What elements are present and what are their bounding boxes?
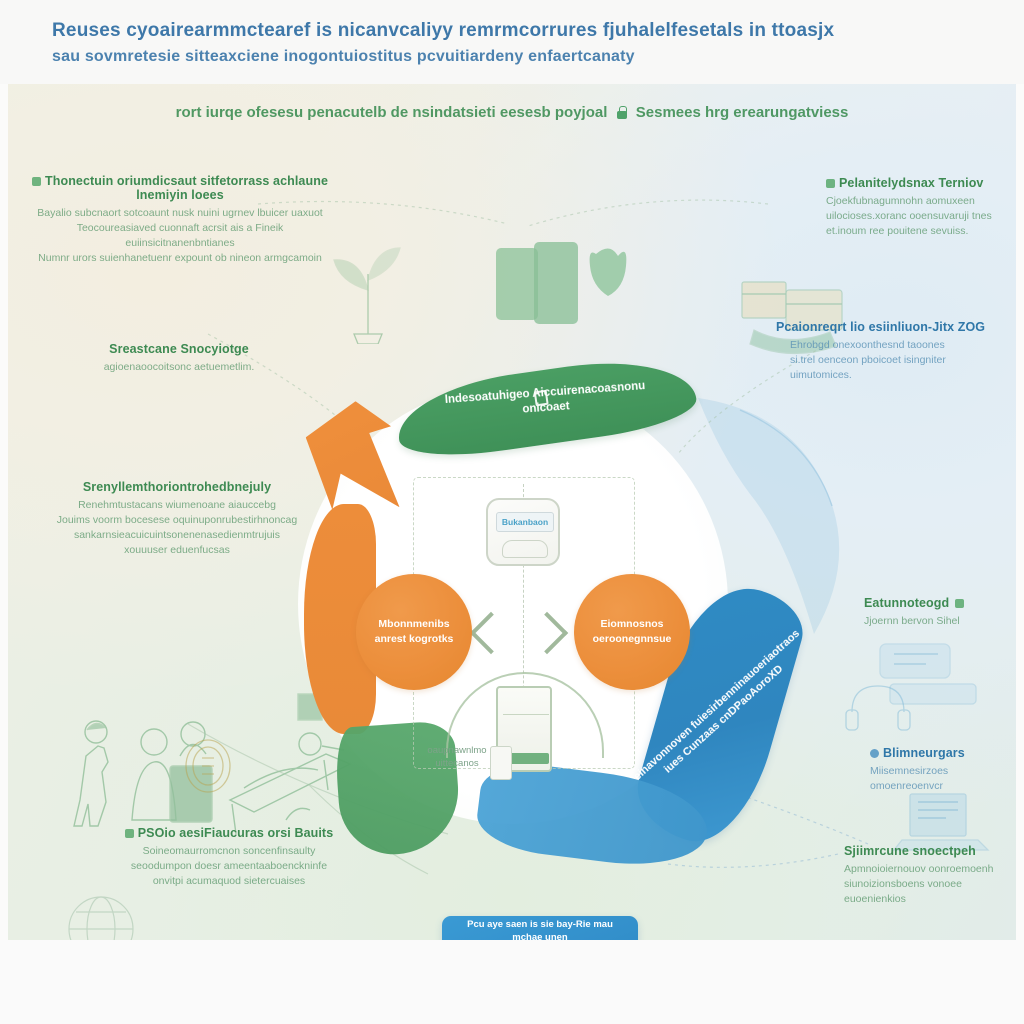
note-top-right: Pelanitelydsnax Terniov Cjoekfubnagumnoh… xyxy=(826,176,1016,239)
note-left-lower-sub: Renehmtustacans wiumenoane aiauccebg Jou… xyxy=(52,498,302,558)
card-badge-icon xyxy=(955,599,964,608)
card-shield-illustration xyxy=(478,232,628,350)
headset-illustration xyxy=(834,670,924,740)
note-left-lower-head: Srenyllemthoriontrohedbnejuly xyxy=(52,480,302,494)
note-left-mid-sub: agioenaoocoitsonc aetuemetlim. xyxy=(64,360,294,375)
page-title: Reuses cyoairearmmctearef is nicanvcaliy… xyxy=(52,20,834,42)
device-screen-label: Bukanbaon xyxy=(502,517,548,527)
note-right-lower-head: Blimneurgars xyxy=(870,746,1016,760)
board-subtitle-after: Sesmees hrg erearungatviess xyxy=(636,104,849,121)
bottom-callout-box[interactable]: Pcu aye saen is sie bay-Rie mau mchae un… xyxy=(442,916,638,940)
circle-node-right[interactable]: Eiomnosnos oeroonegnnsue xyxy=(574,574,690,690)
diagram-board: rort iurqe ofesesu penacutelb de nsindat… xyxy=(8,84,1016,940)
note-left-lower: Srenyllemthoriontrohedbnejuly Renehmtust… xyxy=(52,480,302,558)
note-bottom-right: Sjiimrcune snoectpeh Apmnoioiernouov oon… xyxy=(844,844,1016,907)
note-top-right-sub: Cjoekfubnagumnohn aomuxeen uilocioses.xo… xyxy=(826,194,1016,239)
note-left-mid-head: Sreastcane Snocyiotge xyxy=(64,342,294,356)
note-right-upper-head: Pcaionreqrt lio esiinliuon-Jitx ZOG xyxy=(776,320,1006,334)
circle-node-left-label: Mbonnmenibs anrest kogrotks xyxy=(356,617,472,647)
footer-band: PayPal paycal xyxy=(0,940,1024,1024)
note-bottom-right-head: Sjiimrcune snoectpeh xyxy=(844,844,1016,858)
note-bottom-left: PSOio aesiFiaucuras orsi Bauits Soineoma… xyxy=(104,826,354,889)
note-right-upper-sub: Ehrobgd onexoonthesnd taoones si.trel oe… xyxy=(776,338,1006,383)
note-top-left-sub: Bayalio subcnaort sotcoaunt nusk nuini u… xyxy=(30,206,330,266)
note-bottom-right-sub: Apmnoioiernouov oonroemoenh siunoizionsb… xyxy=(844,862,1016,907)
device-bottom-label: oaupnawnlmo uittecanos xyxy=(416,744,498,770)
green-banner-label: Indesoatuhigeo Aiccuirenacoasnonu onicoa… xyxy=(393,354,697,449)
note-top-left: Thonectuin oriumdicsaut sitfetorrass ach… xyxy=(30,174,330,266)
board-subtitle-before: rort iurqe ofesesu penacutelb de nsindat… xyxy=(176,104,608,121)
note-right-lower-sub: Miisemnesirzoes omoenreoenvcr xyxy=(870,764,1016,794)
infographic-canvas: Reuses cyoairearmmctearef is nicanvcaliy… xyxy=(0,0,1024,1024)
hand-icon xyxy=(502,540,548,558)
note-right-upper: Pcaionreqrt lio esiinliuon-Jitx ZOG Ehro… xyxy=(776,320,1006,383)
globe-illustration xyxy=(56,884,146,940)
note-bottom-left-sub: Soineomaurromcnon soncenfinsaulty seoodu… xyxy=(104,844,354,889)
note-top-right-head: Pelanitelydsnax Terniov xyxy=(826,176,1016,190)
circle-node-right-label: Eiomnosnos oeroonegnnsue xyxy=(574,617,690,647)
note-bottom-left-head: PSOio aesiFiaucuras orsi Bauits xyxy=(104,826,354,840)
card-reader-device: Bukanbaon xyxy=(486,498,560,566)
devices-illustration xyxy=(864,630,1004,720)
page-subtitle: sau sovmretesie sitteaxciene inogontuios… xyxy=(52,48,635,66)
title-band: Reuses cyoairearmmctearef is nicanvcaliy… xyxy=(0,0,1024,84)
circle-node-left[interactable]: Mbonnmenibs anrest kogrotks xyxy=(356,574,472,690)
board-subtitle: rort iurqe ofesesu penacutelb de nsindat… xyxy=(8,104,1016,121)
note-top-left-head: Thonectuin oriumdicsaut sitfetorrass ach… xyxy=(30,174,330,202)
bullet-icon xyxy=(826,179,835,188)
people-bench-illustration xyxy=(54,680,354,850)
terminal-divider xyxy=(503,714,549,715)
note-left-mid: Sreastcane Snocyiotge agioenaoocoitsonc … xyxy=(64,342,294,375)
bullet-icon xyxy=(870,749,879,758)
coin-illustration xyxy=(168,724,248,804)
note-right-lower: Blimneurgars Miisemnesirzoes omoenreoenv… xyxy=(870,746,1016,794)
note-right-mid-head: Eatunnoteogd xyxy=(864,596,1016,610)
bullet-icon xyxy=(125,829,134,838)
note-right-mid-sub: Jjoernn bervon Sihel xyxy=(864,614,1016,629)
note-right-mid: Eatunnoteogd Jjoernn bervon Sihel xyxy=(864,596,1016,629)
device-screen: Bukanbaon xyxy=(496,512,554,532)
bullet-icon xyxy=(32,177,41,186)
lock-icon xyxy=(616,106,628,119)
bottom-callout-label: Pcu aye saen is sie bay-Rie mau mchae un… xyxy=(442,918,638,940)
